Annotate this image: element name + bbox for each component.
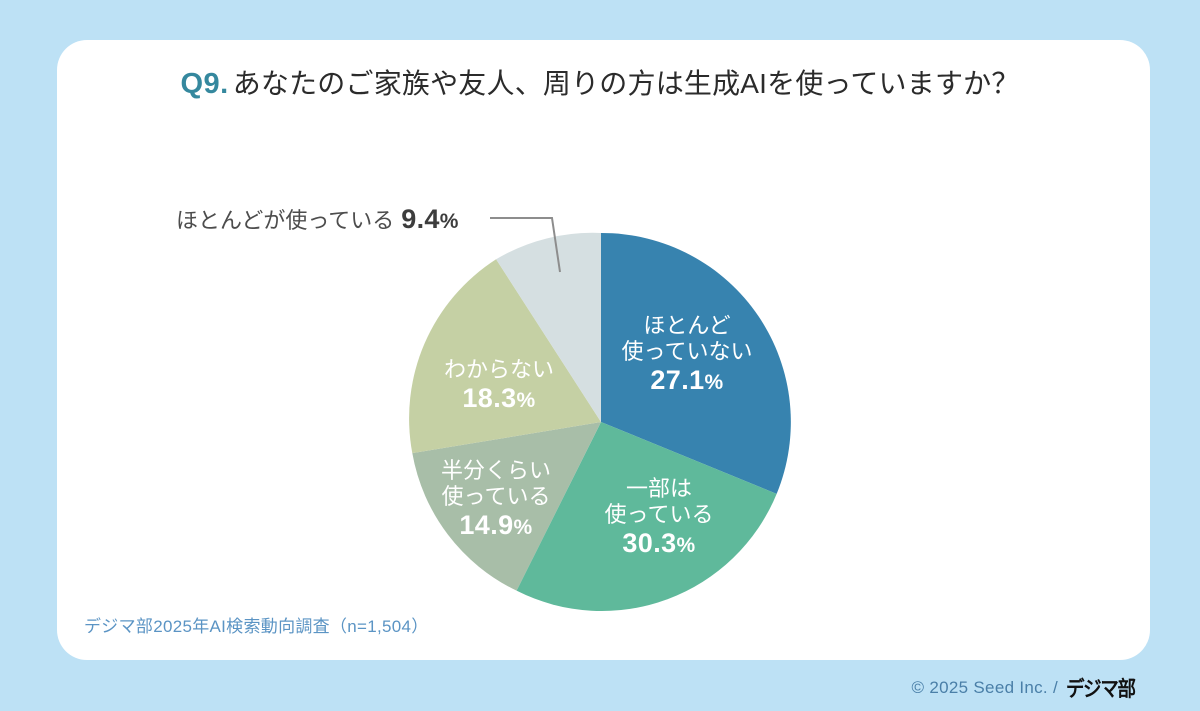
page-title: Q9.あなたのご家族や友人、周りの方は生成AIを使っていますか？ [0, 62, 1200, 102]
source-note: デジマ部2025年AI検索動向調査（n=1,504） [84, 612, 429, 637]
content-card [57, 40, 1150, 660]
copyright-text: © 2025 Seed Inc. / [912, 678, 1058, 698]
question-text: あなたのご家族や友人、周りの方は生成AIを使っていますか？ [233, 68, 1020, 99]
brand-logo: デジマ部 [1066, 673, 1135, 703]
question-number: Q9. [180, 68, 228, 100]
footer: © 2025 Seed Inc. / デジマ部 [912, 673, 1144, 703]
